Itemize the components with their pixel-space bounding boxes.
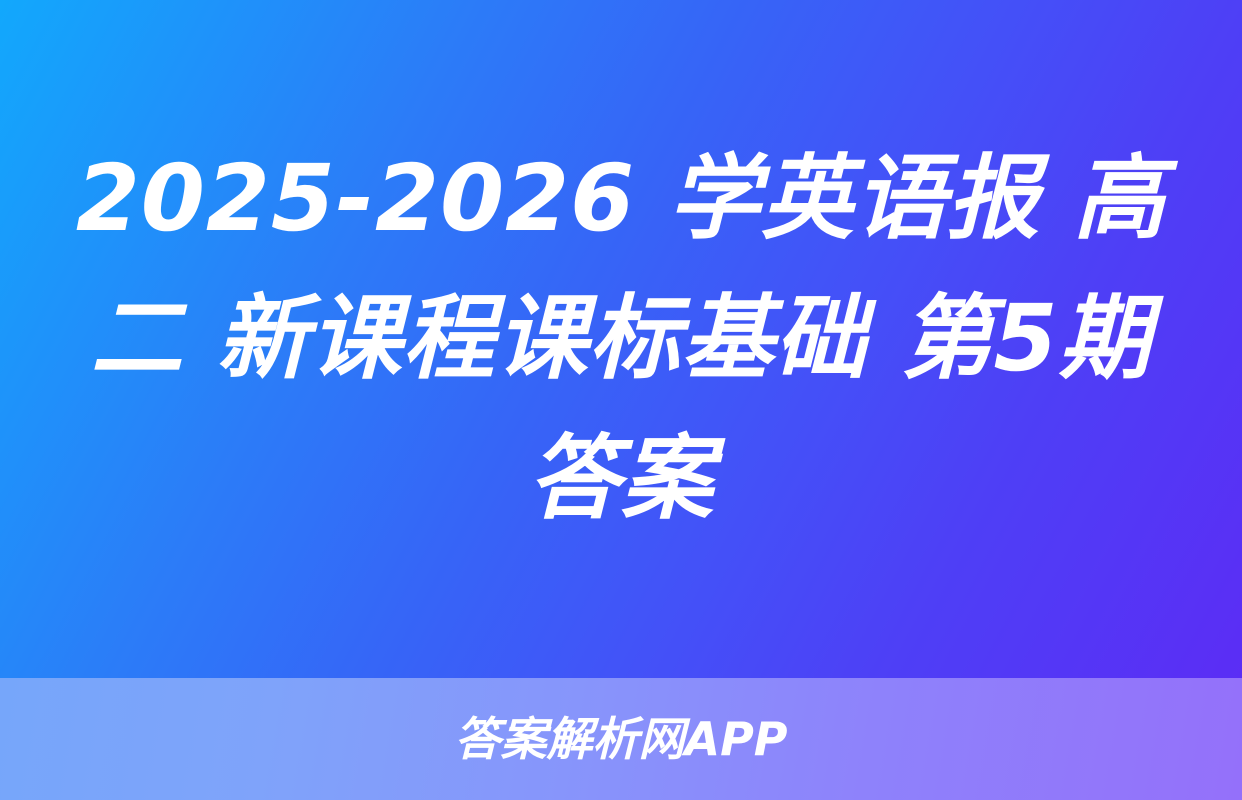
app-brand-label: 答案解析网APP	[454, 716, 787, 762]
footer-brand-bar: 答案解析网APP	[0, 678, 1242, 800]
page-title: 2025-2026 学英语报 高二 新课程课标基础 第5期答案	[66, 129, 1176, 548]
answer-card: 2025-2026 学英语报 高二 新课程课标基础 第5期答案 答案解析网APP	[0, 0, 1242, 800]
hero-content: 2025-2026 学英语报 高二 新课程课标基础 第5期答案	[0, 0, 1242, 678]
